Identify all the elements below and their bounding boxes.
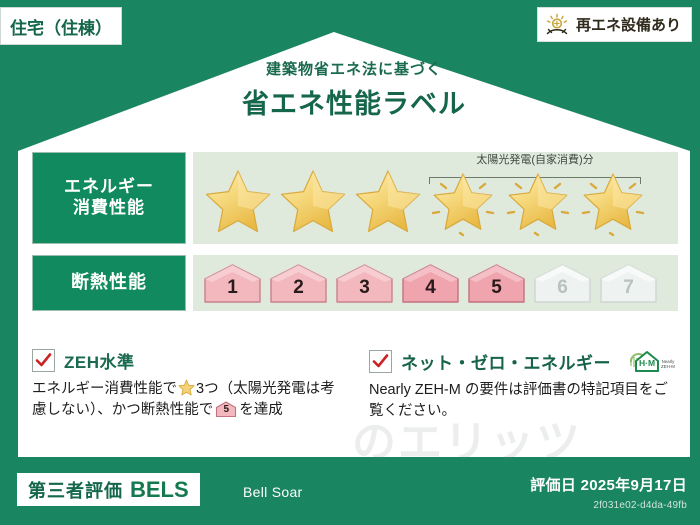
zeh-standard-header: ZEH水準 bbox=[32, 348, 343, 373]
net-zero-energy-statement: ネット・ゼロ・エネルギー H·M Nearly bbox=[355, 348, 678, 423]
net-zero-body: Nearly ZEH-M の要件は評価書の特記項目をご覧ください。 bbox=[369, 380, 678, 423]
renewable-equipment-badge: 再エネ設備あり bbox=[537, 7, 692, 42]
insulation-level-number: 7 bbox=[623, 277, 634, 305]
star-filled bbox=[276, 165, 350, 237]
zeh-body-part3: を達成 bbox=[239, 402, 283, 418]
category-tag: 住宅（住棟） bbox=[0, 7, 122, 45]
zeh-m-logo: H·M Nearly ZEH-M bbox=[618, 348, 676, 374]
bell-soar-label: Bell Soar bbox=[243, 484, 303, 500]
inline-star-icon bbox=[178, 379, 195, 396]
heading-subtitle: 建築物省エネ法に基づく bbox=[18, 58, 690, 79]
zeh-standard-body: エネルギー消費性能で 3つ（太陽光発電は考慮しない）、かつ断熱性能で 5 を達成 bbox=[32, 379, 343, 422]
label-content: 建築物省エネ法に基づく 省エネ性能ラベル エネルギー 消費性能 太陽光発電(自家… bbox=[18, 32, 690, 457]
insulation-levels-area: 1 2 bbox=[193, 255, 678, 311]
energy-label-line2: 消費性能 bbox=[73, 198, 145, 219]
energy-performance-label: 住宅（住棟） 再エネ設備あり 建築物省エネ法に基づく bbox=[0, 0, 700, 525]
label-footer: 第三者評価 BELS Bell Soar 評価日 2025年9月17日 2f03… bbox=[0, 457, 700, 525]
insulation-level-number: 6 bbox=[557, 277, 568, 305]
zeh-m-logo-bottom-text: ZEH-M bbox=[661, 364, 675, 369]
insulation-level-4: 4 bbox=[399, 262, 462, 305]
zeh-body-part1: エネルギー消費性能で bbox=[32, 381, 177, 397]
bels-label: BELS bbox=[130, 477, 189, 503]
sun-icon bbox=[544, 12, 570, 38]
star-filled bbox=[201, 165, 275, 237]
checkmark-icon bbox=[369, 350, 392, 373]
bels-certification-box: 第三者評価 BELS bbox=[17, 473, 200, 506]
star-filled-solar bbox=[501, 165, 575, 237]
net-zero-title: ネット・ゼロ・エネルギー bbox=[401, 349, 611, 374]
energy-performance-stars-area: 太陽光発電(自家消費)分 bbox=[193, 152, 678, 244]
insulation-level-number: 5 bbox=[491, 277, 502, 305]
metric-rows: エネルギー 消費性能 太陽光発電(自家消費)分 bbox=[32, 152, 678, 322]
inline-house-icon: 5 bbox=[215, 401, 237, 418]
evaluation-date: 評価日 2025年9月17日 bbox=[530, 474, 687, 495]
energy-performance-label-box: エネルギー 消費性能 bbox=[32, 152, 186, 244]
insulation-level-7: 7 bbox=[597, 262, 660, 305]
insulation-level-6: 6 bbox=[531, 262, 594, 305]
energy-performance-row: エネルギー 消費性能 太陽光発電(自家消費)分 bbox=[32, 152, 678, 244]
label-heading: 建築物省エネ法に基づく 省エネ性能ラベル bbox=[18, 58, 690, 121]
insulation-level-number: 3 bbox=[359, 277, 370, 305]
zeh-body-star-text: 3つ（太陽光発電 bbox=[196, 381, 306, 397]
star-rating bbox=[193, 165, 650, 237]
net-zero-header: ネット・ゼロ・エネルギー H·M Nearly bbox=[369, 348, 678, 374]
inline-house-number: 5 bbox=[215, 403, 237, 418]
star-filled-solar bbox=[426, 165, 500, 237]
zeh-standard-statement: ZEH水準 エネルギー消費性能で 3つ（太陽光発電は考慮しない）、かつ断熱性能で… bbox=[32, 348, 355, 423]
category-tag-label: 住宅（住棟） bbox=[10, 14, 112, 39]
zeh-standard-title: ZEH水準 bbox=[64, 348, 135, 373]
certification-statements: ZEH水準 エネルギー消費性能で 3つ（太陽光発電は考慮しない）、かつ断熱性能で… bbox=[32, 348, 678, 423]
insulation-level-5: 5 bbox=[465, 262, 528, 305]
star-filled-solar bbox=[576, 165, 650, 237]
star-filled bbox=[351, 165, 425, 237]
svg-text:H·M: H·M bbox=[639, 358, 655, 368]
third-party-label: 第三者評価 bbox=[28, 477, 123, 503]
insulation-level-number: 2 bbox=[293, 277, 304, 305]
insulation-level-scale: 1 2 bbox=[193, 262, 660, 305]
insulation-label: 断熱性能 bbox=[71, 272, 147, 294]
checkmark-icon bbox=[32, 349, 55, 372]
insulation-level-number: 4 bbox=[425, 277, 436, 305]
insulation-level-2: 2 bbox=[267, 262, 330, 305]
renewable-badge-label: 再エネ設備あり bbox=[576, 14, 681, 35]
energy-label-line1: エネルギー bbox=[64, 177, 154, 198]
label-uid: 2f031e02-d4da-49fb bbox=[593, 500, 687, 511]
insulation-level-3: 3 bbox=[333, 262, 396, 305]
insulation-performance-row: 断熱性能 1 bbox=[32, 255, 678, 311]
insulation-level-number: 1 bbox=[227, 277, 238, 305]
insulation-level-1: 1 bbox=[201, 262, 264, 305]
insulation-performance-label-box: 断熱性能 bbox=[32, 255, 186, 311]
heading-title: 省エネ性能ラベル bbox=[18, 82, 690, 121]
